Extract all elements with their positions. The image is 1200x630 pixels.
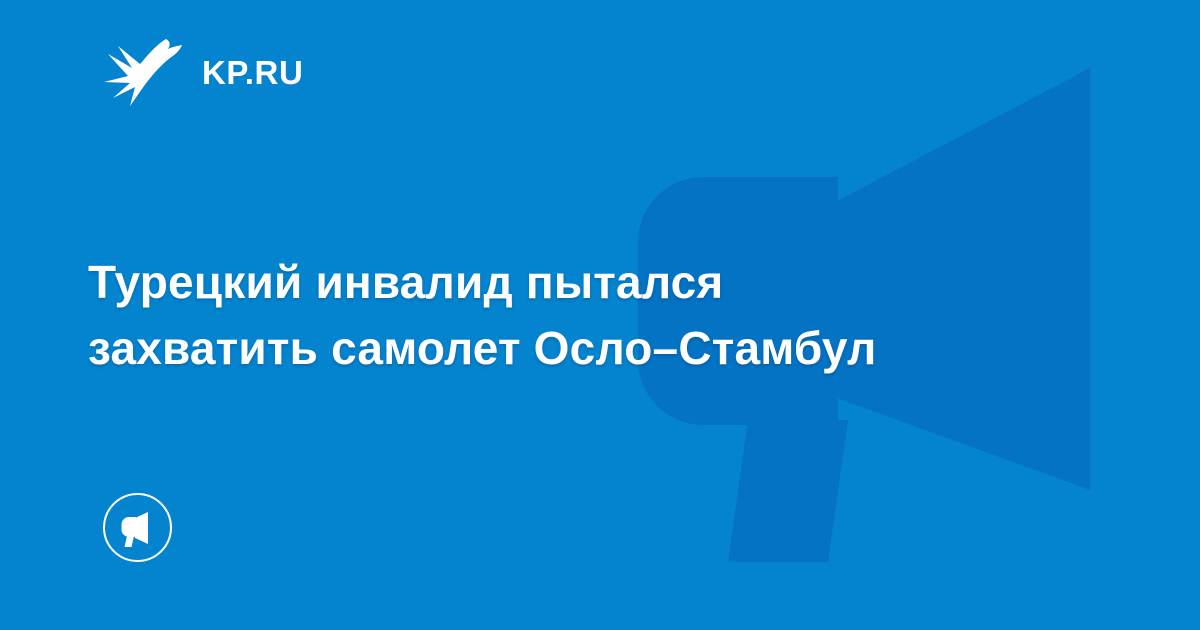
- headline-line-1: Турецкий инвалид пытался: [88, 249, 1108, 315]
- megaphone-badge[interactable]: [102, 492, 173, 563]
- swallow-bird-icon: [104, 36, 182, 108]
- megaphone-icon: [102, 492, 173, 563]
- brand-name-label: KP.RU: [202, 56, 303, 89]
- headline-line-2: захватить самолет Осло–Стамбул: [88, 315, 1108, 381]
- brand-logo[interactable]: KP.RU: [104, 36, 303, 108]
- headline: Турецкий инвалид пытался захватить самол…: [88, 249, 1108, 381]
- article-share-card: KP.RU Турецкий инвалид пытался захватить…: [0, 0, 1200, 630]
